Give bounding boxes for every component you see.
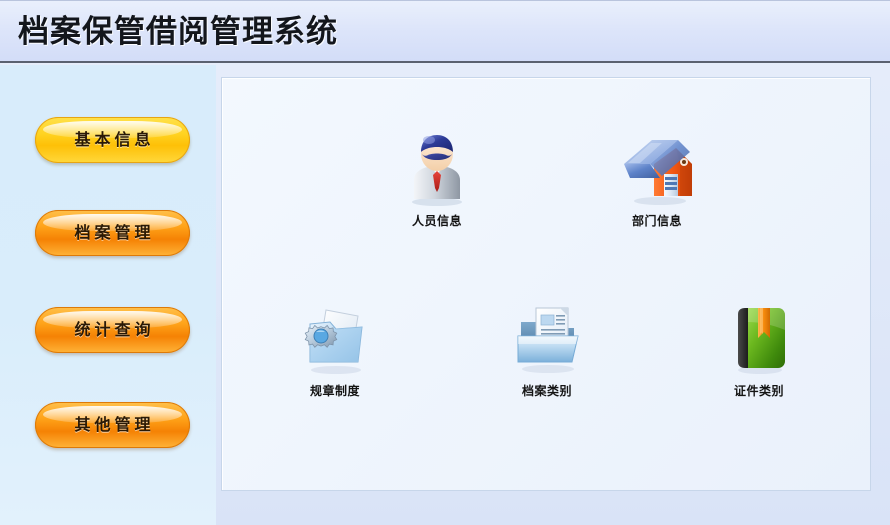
sidebar-item-label: 档案管理	[35, 210, 190, 256]
content-panel: 人员信息	[221, 77, 871, 491]
sidebar-item-label: 统计查询	[35, 307, 190, 353]
person-icon	[398, 130, 476, 208]
module-label: 证件类别	[684, 384, 834, 398]
module-label: 人员信息	[362, 214, 512, 228]
module-certificate-category[interactable]: 证件类别	[684, 300, 834, 398]
module-label: 规章制度	[260, 384, 410, 398]
module-personnel-info[interactable]: 人员信息	[362, 130, 512, 228]
sidebar-item-label: 其他管理	[35, 402, 190, 448]
workspace: 基本信息 档案管理 统计查询 其他管理	[0, 65, 890, 525]
house-icon	[618, 130, 696, 208]
sidebar: 基本信息 档案管理 统计查询 其他管理	[0, 65, 216, 525]
sidebar-item-archive-management[interactable]: 档案管理	[35, 210, 190, 256]
module-label: 档案类别	[472, 384, 622, 398]
sidebar-item-statistics-query[interactable]: 统计查询	[35, 307, 190, 353]
application-window: 档案保管借阅管理系统 基本信息 档案管理 统计查询 其他管理	[0, 0, 890, 525]
sidebar-item-other-management[interactable]: 其他管理	[35, 402, 190, 448]
module-label: 部门信息	[582, 214, 732, 228]
module-department-info[interactable]: 部门信息	[582, 130, 732, 228]
icon-row-1: 人员信息	[222, 130, 872, 228]
page-title: 档案保管借阅管理系统	[18, 11, 338, 53]
folder-gear-icon	[296, 300, 374, 378]
folder-document-icon	[508, 300, 586, 378]
sidebar-item-label: 基本信息	[35, 117, 190, 163]
sidebar-item-basic-info[interactable]: 基本信息	[35, 117, 190, 163]
title-bar: 档案保管借阅管理系统	[0, 0, 890, 63]
module-rules-regulations[interactable]: 规章制度	[260, 300, 410, 398]
icon-row-2: 规章制度	[222, 300, 872, 398]
module-archive-category[interactable]: 档案类别	[472, 300, 622, 398]
green-book-icon	[720, 300, 798, 378]
